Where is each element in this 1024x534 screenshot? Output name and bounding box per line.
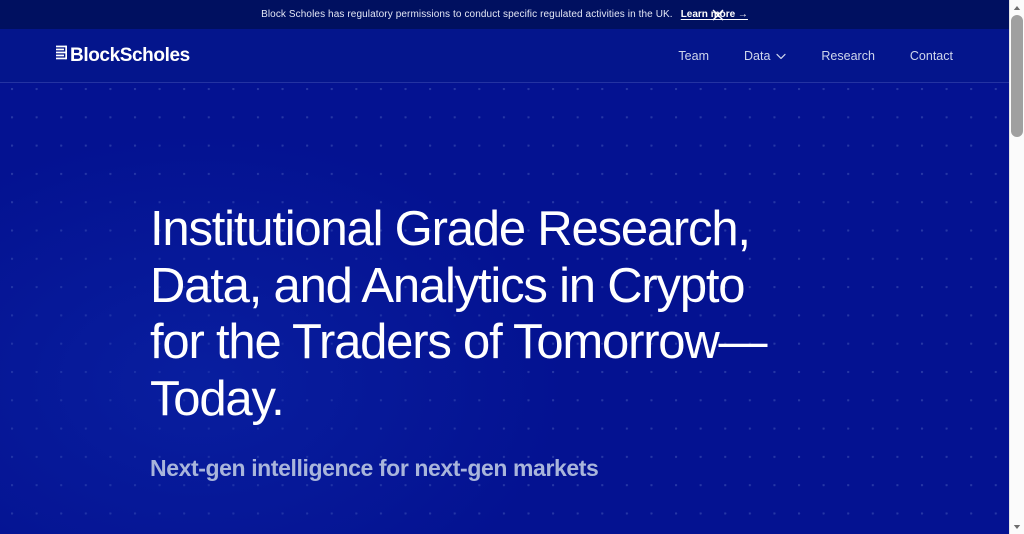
- hero-content: Institutional Grade Research, Data, and …: [0, 83, 1009, 482]
- nav-item-label: Research: [821, 49, 875, 63]
- nav-item-team[interactable]: Team: [678, 49, 709, 63]
- nav-item-data[interactable]: Data: [744, 49, 786, 63]
- page-viewport: Block Scholes has regulatory permissions…: [0, 0, 1009, 534]
- scrollbar-thumb[interactable]: [1011, 15, 1023, 137]
- vertical-scrollbar[interactable]: [1009, 0, 1024, 534]
- nav-item-label: Contact: [910, 49, 953, 63]
- site-header: BlockScholes Team Data Research Contact: [0, 29, 1009, 82]
- nav-item-label: Team: [678, 49, 709, 63]
- nav-item-contact[interactable]: Contact: [910, 49, 953, 63]
- announcement-message: Block Scholes has regulatory permissions…: [261, 9, 673, 20]
- close-icon[interactable]: [710, 7, 726, 23]
- chevron-down-icon: [776, 49, 786, 63]
- logo[interactable]: BlockScholes: [56, 45, 190, 67]
- hero-section: Institutional Grade Research, Data, and …: [0, 82, 1009, 534]
- nav-item-research[interactable]: Research: [821, 49, 875, 63]
- block-scholes-b-mark-icon: [56, 45, 68, 66]
- hero-subtitle: Next-gen intelligence for next-gen marke…: [150, 455, 1009, 482]
- announcement-banner: Block Scholes has regulatory permissions…: [0, 0, 1009, 29]
- scroll-up-arrow-icon[interactable]: [1010, 0, 1024, 15]
- main-nav: Team Data Research Contact: [678, 49, 1009, 63]
- scroll-down-arrow-icon[interactable]: [1010, 519, 1024, 534]
- logo-text: BlockScholes: [70, 45, 190, 67]
- nav-item-label: Data: [744, 49, 770, 63]
- page-title: Institutional Grade Research, Data, and …: [150, 201, 790, 427]
